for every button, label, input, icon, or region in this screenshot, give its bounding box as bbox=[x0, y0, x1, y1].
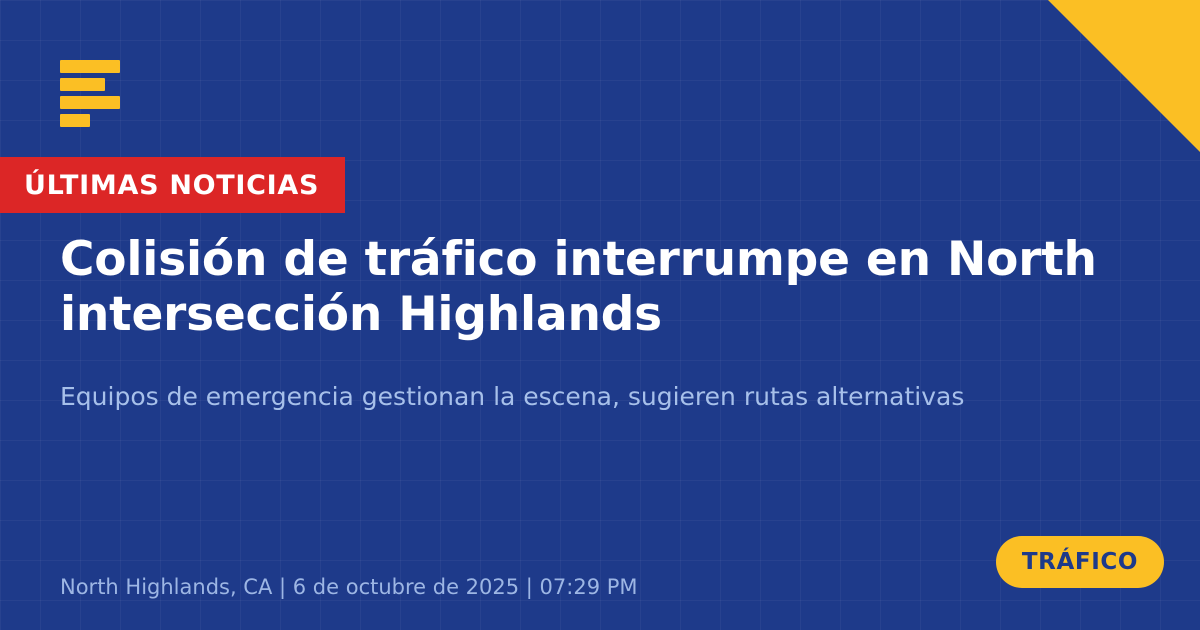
headline: Colisión de tráfico interrumpe en North … bbox=[60, 232, 1160, 343]
subtitle: Equipos de emergencia gestionan la escen… bbox=[60, 381, 1150, 414]
breaking-news-label: ÚLTIMAS NOTICIAS bbox=[24, 172, 319, 199]
logo-bar-4 bbox=[60, 114, 90, 127]
logo-bar-1 bbox=[60, 60, 120, 73]
breaking-news-badge: ÚLTIMAS NOTICIAS bbox=[0, 157, 345, 213]
logo-bar-2 bbox=[60, 78, 105, 91]
category-badge-label: TRÁFICO bbox=[1022, 551, 1138, 574]
category-badge: TRÁFICO bbox=[996, 536, 1164, 588]
brand-logo bbox=[60, 60, 120, 127]
yellow-corner-wedge bbox=[1048, 0, 1200, 152]
news-banner-card: ÚLTIMAS NOTICIAS Colisión de tráfico int… bbox=[0, 0, 1200, 630]
logo-bar-3 bbox=[60, 96, 120, 109]
meta-line: North Highlands, CA | 6 de octubre de 20… bbox=[60, 575, 638, 600]
